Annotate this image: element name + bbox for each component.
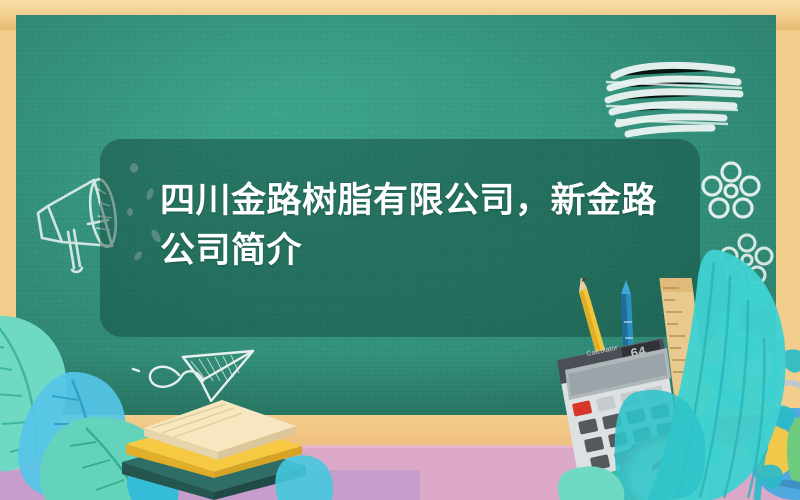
- page-title: 四川金路树脂有限公司，新金路公司简介: [160, 176, 660, 275]
- cover-image: 四川金路树脂有限公司，新金路公司简介: [0, 0, 800, 500]
- right-object-cluster: Calculator 64: [495, 278, 800, 500]
- magnified-number: 1: [649, 449, 677, 500]
- book-stack: [118, 388, 308, 500]
